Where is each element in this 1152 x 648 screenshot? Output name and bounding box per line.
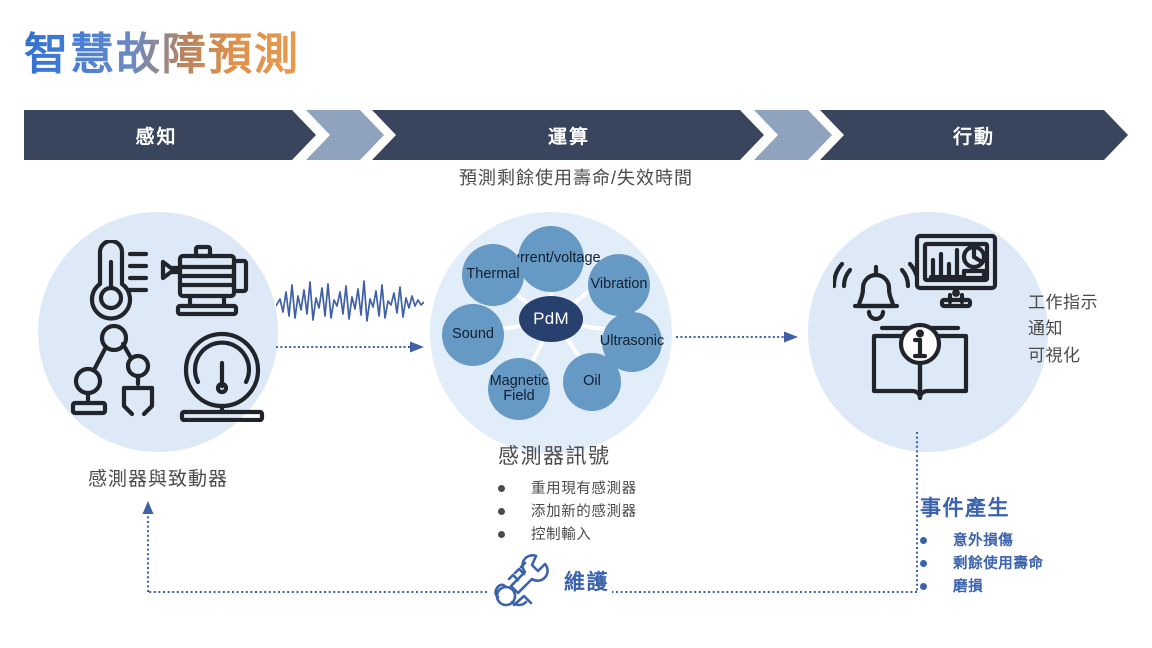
hand-wrench-icon — [492, 552, 554, 610]
bullet-dot — [920, 537, 927, 544]
list-item-label: 重用現有感測器 — [531, 478, 637, 501]
page-title: 智慧故障預測 — [24, 18, 300, 82]
bullet-dot — [498, 485, 505, 492]
satellite-label: Thermal — [466, 267, 519, 282]
pdm-core-label: PdM — [533, 309, 569, 329]
list-item: 重用現有感測器 — [498, 478, 637, 501]
bullet-dot — [920, 560, 927, 567]
stage-label-act: 行動 — [844, 110, 1104, 160]
slide-canvas: 智慧故障預測 感知 運算 行動 預測剩餘使用壽命/失效時間 — [0, 0, 1152, 648]
event-generation-title: 事件產生 — [920, 492, 1044, 522]
satellite-magnetic-field[interactable]: Magnetic Field — [488, 358, 550, 420]
list-item-label: 磨損 — [953, 576, 983, 599]
satellite-label: Vibration — [591, 277, 648, 292]
list-item-label: 意外損傷 — [953, 530, 1013, 553]
event-generation-list: 意外損傷 剩餘使用壽命 磨損 — [920, 530, 1044, 599]
sense-caption: 感測器與致動器 — [38, 464, 278, 491]
event-generation-block: 事件產生 意外損傷 剩餘使用壽命 磨損 — [920, 492, 1044, 599]
robot-arm-icon — [68, 318, 164, 418]
thermometer-icon — [72, 240, 154, 324]
list-item: 控制輸入 — [498, 524, 637, 547]
list-item-label: 剩餘使用壽命 — [953, 553, 1044, 576]
maintenance-label: 維護 — [564, 566, 609, 596]
connector-arrow-2 — [754, 110, 832, 160]
pdm-core-node[interactable]: PdM — [519, 296, 583, 342]
satellite-sound[interactable]: Sound — [442, 304, 504, 366]
list-item: 磨損 — [920, 576, 1044, 599]
pdm-wheel: Current/voltage Vibration Ultrasonic Oil… — [430, 212, 672, 454]
motor-icon — [158, 243, 254, 321]
process-banner: 感知 運算 行動 — [24, 110, 1128, 160]
flow-arrow-sense-to-compute — [276, 340, 424, 354]
bullet-dot — [498, 531, 505, 538]
monitor-chart-icon — [914, 233, 998, 309]
list-item-label: 添加新的感測器 — [531, 501, 637, 524]
satellite-thermal[interactable]: Thermal — [462, 244, 524, 306]
signal-waveform — [276, 272, 424, 328]
satellite-current-voltage[interactable]: Current/voltage — [518, 226, 584, 292]
act-caption-line: 可視化 — [1028, 343, 1098, 369]
bullet-dot — [920, 583, 927, 590]
satellite-label: Magnetic Field — [488, 374, 550, 404]
list-item-label: 控制輸入 — [531, 524, 591, 547]
satellite-label: Oil — [583, 374, 601, 389]
satellite-vibration[interactable]: Vibration — [588, 254, 650, 316]
list-item: 剩餘使用壽命 — [920, 553, 1044, 576]
sensor-signal-block: 感測器訊號 重用現有感測器 添加新的感測器 控制輸入 — [498, 440, 637, 547]
book-info-icon — [868, 320, 972, 406]
act-caption-line: 工作指示 — [1028, 290, 1098, 316]
connector-arrow-1 — [306, 110, 384, 160]
satellite-label: Sound — [452, 327, 494, 342]
list-item: 意外損傷 — [920, 530, 1044, 553]
satellite-label: Ultrasonic — [600, 334, 664, 349]
maintenance-group: 維護 — [492, 552, 609, 610]
bullet-dot — [498, 508, 505, 515]
subtitle: 預測剩餘使用壽命/失效時間 — [24, 164, 1128, 190]
satellite-oil[interactable]: Oil — [563, 353, 621, 411]
stage-label-sense: 感知 — [24, 110, 289, 160]
stage-label-compute: 運算 — [379, 110, 759, 160]
flow-arrow-compute-to-act — [676, 330, 798, 344]
sensor-signal-list: 重用現有感測器 添加新的感測器 控制輸入 — [498, 478, 637, 547]
gauge-icon — [172, 330, 272, 422]
act-caption: 工作指示 通知 可視化 — [1028, 290, 1098, 369]
sensor-signal-title: 感測器訊號 — [498, 440, 637, 470]
act-caption-line: 通知 — [1028, 316, 1098, 342]
list-item: 添加新的感測器 — [498, 501, 637, 524]
